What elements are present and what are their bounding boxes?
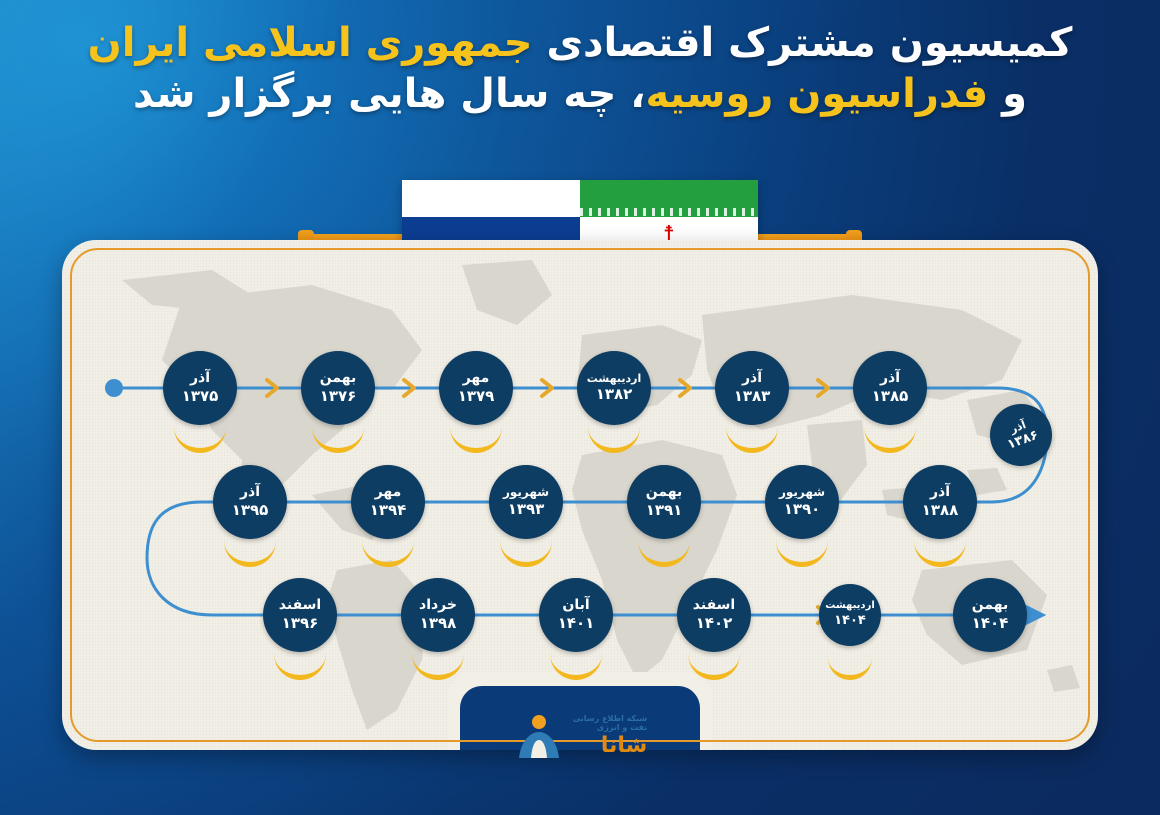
iran-flag-kufi-top bbox=[580, 208, 758, 216]
node-year: ۱۳۹۶ bbox=[282, 615, 319, 632]
node-year: ۱۴۰۱ bbox=[558, 615, 595, 632]
node-month: آذر bbox=[930, 485, 950, 500]
timeline-node[interactable]: اسفند ۱۳۹۶ bbox=[263, 578, 337, 652]
node-month: بهمن bbox=[972, 598, 1008, 613]
timeline-node[interactable]: آذر ۱۳۸۸ bbox=[903, 465, 977, 539]
title-line-1-highlight: جمهوری اسلامی ایران bbox=[88, 20, 533, 66]
timeline-node[interactable]: آبان ۱۴۰۱ bbox=[539, 578, 613, 652]
node-month: آذر bbox=[742, 371, 762, 386]
node-month: بهمن bbox=[646, 485, 682, 500]
node-year: ۱۳۸۲ bbox=[596, 386, 633, 403]
node-year: ۱۴۰۴ bbox=[972, 615, 1009, 632]
timeline-node[interactable]: خرداد ۱۳۹۸ bbox=[401, 578, 475, 652]
timeline-node[interactable]: آذر ۱۳۷۵ bbox=[163, 351, 237, 425]
timeline-node[interactable]: اردیبهشت ۱۴۰۴ bbox=[819, 584, 881, 646]
node-month: اردیبهشت bbox=[825, 601, 875, 612]
logo-line-3: شانا bbox=[601, 733, 647, 758]
timeline-start-dot bbox=[105, 379, 123, 397]
node-month: اردیبهشت bbox=[587, 373, 641, 385]
shana-logo-icon bbox=[513, 710, 565, 762]
node-month: آذر bbox=[190, 371, 210, 386]
logo-line-2: نفت و انرژی bbox=[597, 723, 647, 732]
node-year: ۱۴۰۲ bbox=[696, 615, 733, 632]
timeline-node[interactable]: بهمن ۱۳۷۶ bbox=[301, 351, 375, 425]
page-title: کمیسیون مشترک اقتصادی جمهوری اسلامی ایرا… bbox=[0, 18, 1160, 120]
timeline-node[interactable]: اسفند ۱۴۰۲ bbox=[677, 578, 751, 652]
node-month: بهمن bbox=[320, 371, 356, 386]
infographic-root: کمیسیون مشترک اقتصادی جمهوری اسلامی ایرا… bbox=[0, 0, 1160, 815]
node-month: مهر bbox=[375, 485, 402, 500]
title-line-2: و فدراسیون روسیه، چه سال هایی برگزار شد bbox=[46, 69, 1114, 120]
timeline-node[interactable]: شهریور ۱۳۹۳ bbox=[489, 465, 563, 539]
node-year: ۱۳۹۸ bbox=[420, 615, 457, 632]
logo-line-1: شبکه اطلاع رسانی bbox=[573, 714, 648, 723]
node-month: خرداد bbox=[419, 598, 457, 613]
node-year: ۱۳۸۸ bbox=[922, 502, 959, 519]
node-year: ۱۳۹۱ bbox=[646, 502, 683, 519]
title-line-2-highlight: فدراسیون روسیه bbox=[646, 71, 989, 117]
timeline: آذر ۱۳۷۵ بهمن ۱۳۷۶ مهر ۱۳۷۹ اردیبهشت ۱۳۸… bbox=[62, 240, 1098, 750]
timeline-node[interactable]: مهر ۱۳۷۹ bbox=[439, 351, 513, 425]
node-year: ۱۳۹۵ bbox=[232, 502, 269, 519]
timeline-node[interactable]: بهمن ۱۳۹۱ bbox=[627, 465, 701, 539]
timeline-node[interactable]: آذر ۱۳۸۳ bbox=[715, 351, 789, 425]
timeline-node[interactable]: آذر ۱۳۹۵ bbox=[213, 465, 287, 539]
title-line-1-text: کمیسیون مشترک اقتصادی bbox=[532, 20, 1072, 66]
node-month: اسفند bbox=[693, 598, 735, 613]
russia-flag-white-stripe bbox=[402, 180, 580, 217]
title-line-2-prefix: و bbox=[988, 71, 1027, 117]
logo-text-block: شبکه اطلاع رسانی نفت و انرژی شانا bbox=[573, 714, 648, 758]
node-year: ۱۴۰۴ bbox=[834, 614, 866, 629]
title-line-2-suffix: ، چه سال هایی برگزار شد bbox=[133, 71, 645, 117]
node-year: ۱۳۷۵ bbox=[182, 388, 219, 405]
timeline-node[interactable]: اردیبهشت ۱۳۸۲ bbox=[577, 351, 651, 425]
node-month: مهر bbox=[463, 371, 490, 386]
node-year: ۱۳۹۴ bbox=[370, 502, 407, 519]
node-year: ۱۳۷۹ bbox=[458, 388, 495, 405]
iran-flag-green-stripe bbox=[580, 180, 758, 217]
timeline-node[interactable]: بهمن ۱۴۰۴ bbox=[953, 578, 1027, 652]
node-month: آذر bbox=[240, 485, 260, 500]
node-month: شهریور bbox=[779, 486, 825, 499]
node-year: ۱۳۸۵ bbox=[872, 388, 909, 405]
timeline-node[interactable]: مهر ۱۳۹۴ bbox=[351, 465, 425, 539]
node-year: ۱۳۹۰ bbox=[784, 501, 821, 518]
title-line-1: کمیسیون مشترک اقتصادی جمهوری اسلامی ایرا… bbox=[46, 18, 1114, 69]
node-month: اسفند bbox=[279, 598, 321, 613]
node-year: ۱۳۹۳ bbox=[508, 501, 545, 518]
timeline-node[interactable]: آذر ۱۳۸۵ bbox=[853, 351, 927, 425]
node-year: ۱۳۸۳ bbox=[734, 388, 771, 405]
node-year: ۱۳۷۶ bbox=[320, 388, 357, 405]
shana-logo[interactable]: شبکه اطلاع رسانی نفت و انرژی شانا bbox=[470, 705, 690, 767]
node-month: آذر bbox=[880, 371, 900, 386]
timeline-node[interactable]: شهریور ۱۳۹۰ bbox=[765, 465, 839, 539]
node-month: آبان bbox=[562, 598, 589, 613]
node-month: شهریور bbox=[503, 486, 549, 499]
